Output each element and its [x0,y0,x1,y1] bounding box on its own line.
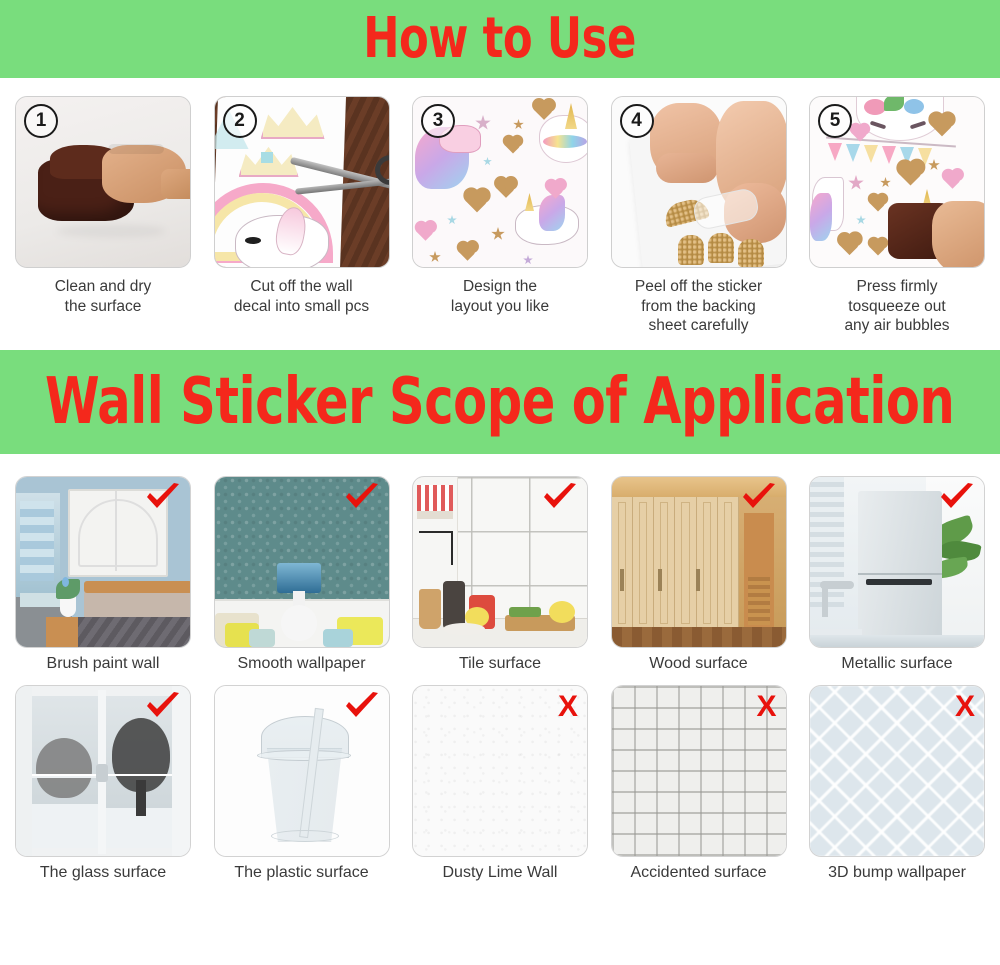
step-number-badge-3: 3 [421,104,455,138]
scope-caption-brush-paint-wall: Brush paint wall [47,655,160,673]
step-caption-5: Press firmly tosqueeze out any air bubbl… [844,277,949,336]
scope-cell-metallic-surface[interactable]: Metallic surface [806,476,988,673]
scope-image-accidented-surface: X [611,685,787,857]
scope-cell-wood-surface[interactable]: Wood surface [608,476,790,673]
scope-cell-dusty-lime-wall[interactable]: X Dusty Lime Wall [409,685,591,882]
step-caption-3: Design the layout you like [451,277,549,316]
scope-caption-glass-surface: The glass surface [40,864,166,882]
scope-image-wood-surface [611,476,787,648]
scope-cell-smooth-wallpaper[interactable]: Smooth wallpaper [211,476,393,673]
scope-caption-accidented-surface: Accidented surface [630,864,766,882]
how-to-use-steps: 1 Clean and dry the surface 2 Cut off th… [0,78,1000,336]
step-image-4: 4 [611,96,787,268]
scope-caption-wood-surface: Wood surface [649,655,747,673]
step-card-3[interactable]: 3 Design the layout you like [409,96,591,336]
suitability-mark-cross: X [756,692,776,722]
step-image-3: 3 [412,96,588,268]
scope-cell-accidented-surface[interactable]: X Accidented surface [608,685,790,882]
scope-image-dusty-lime-wall: X [412,685,588,857]
step-number-badge-1: 1 [24,104,58,138]
step-card-2[interactable]: 2 Cut off the wall decal into small pcs [211,96,393,336]
step-caption-1: Clean and dry the surface [55,277,152,316]
step-image-5: 5 [809,96,985,268]
step-number-badge-4: 4 [620,104,654,138]
step-number-badge-5: 5 [818,104,852,138]
suitability-mark-tick [344,692,380,722]
scope-image-plastic-surface [214,685,390,857]
scope-caption-dusty-lime-wall: Dusty Lime Wall [443,864,558,882]
step-card-4[interactable]: 4 Peel off the sticker from the backing … [608,96,790,336]
step-number-badge-2: 2 [223,104,257,138]
suitability-mark-tick [145,692,181,722]
scope-image-smooth-wallpaper [214,476,390,648]
scope-caption-3d-bump-wallpaper: 3D bump wallpaper [828,864,966,882]
scope-cell-tile-surface[interactable]: Tile surface [409,476,591,673]
scope-caption-tile-surface: Tile surface [459,655,541,673]
scope-image-metallic-surface [809,476,985,648]
scope-image-tile-surface [412,476,588,648]
scope-cell-brush-paint-wall[interactable]: Brush paint wall [12,476,194,673]
scope-image-glass-surface [15,685,191,857]
step-image-2: 2 [214,96,390,268]
scope-cell-plastic-surface[interactable]: The plastic surface [211,685,393,882]
scope-cell-glass-surface[interactable]: The glass surface [12,685,194,882]
suitability-mark-tick [741,483,777,513]
how-to-use-banner: How to Use [0,0,1000,78]
scope-caption-metallic-surface: Metallic surface [841,655,952,673]
scope-row-1: Brush paint wall Smooth wa [12,476,988,673]
suitability-mark-tick [939,483,975,513]
suitability-mark-tick [145,483,181,513]
suitability-mark-tick [542,483,578,513]
scope-caption-smooth-wallpaper: Smooth wallpaper [237,655,365,673]
step-caption-2: Cut off the wall decal into small pcs [234,277,369,316]
scope-image-brush-paint-wall [15,476,191,648]
step-image-1: 1 [15,96,191,268]
step-card-1[interactable]: 1 Clean and dry the surface [12,96,194,336]
suitability-mark-tick [344,483,380,513]
how-to-use-title: How to Use [364,11,637,67]
suitability-mark-cross: X [955,692,975,722]
scope-image-3d-bump-wallpaper: X [809,685,985,857]
step-caption-4: Peel off the sticker from the backing sh… [635,277,762,336]
step-card-5[interactable]: 5 Press firmly tosqueeze out any air bub… [806,96,988,336]
scope-grid: Brush paint wall Smooth wa [0,454,1000,882]
scope-caption-plastic-surface: The plastic surface [234,864,368,882]
scope-banner: Wall Sticker Scope of Application [0,350,1000,454]
scope-row-2: The glass surface The plastic surface [12,685,988,882]
scope-cell-3d-bump-wallpaper[interactable]: X 3D bump wallpaper [806,685,988,882]
suitability-mark-cross: X [558,692,578,722]
scope-title: Wall Sticker Scope of Application [45,370,954,434]
